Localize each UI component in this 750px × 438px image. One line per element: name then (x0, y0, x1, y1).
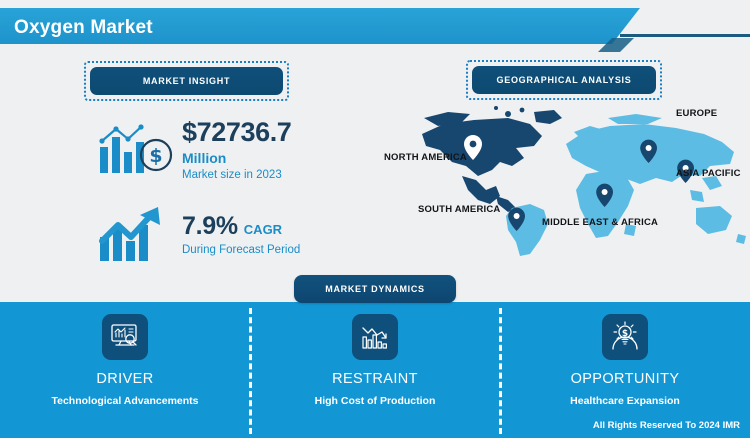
market-size-value: $72736.7 (182, 118, 291, 146)
cagr-subtitle: During Forecast Period (182, 244, 300, 256)
dynamics-column-opportunity: $ (500, 302, 750, 438)
bar-chart-dollar-icon: $ (96, 119, 174, 181)
dynamics-subtitle-opportunity: Healthcare Expansion (570, 395, 680, 407)
cagr-line: 7.9% CAGR (182, 212, 300, 241)
copyright-note: All Rights Reserved To 2024 IMR (593, 420, 740, 431)
dynamics-title-restraint: RESTRAINT (332, 371, 418, 387)
lightbulb-dollar-icon: $ (602, 314, 648, 360)
infographic-page: Oxygen Market MARKET INSIGHT GEOGRAPHICA… (0, 0, 750, 438)
badge-market-insight-pill: MARKET INSIGHT (90, 67, 283, 95)
market-size-unit: Million (182, 150, 291, 166)
header-rule-line (620, 34, 750, 37)
dynamics-title-opportunity: OPPORTUNITY (571, 371, 680, 387)
growth-arrow-icon (96, 203, 174, 265)
map-label-north-america: NORTH AMERICA (384, 152, 467, 163)
stat-cagr: 7.9% CAGR During Forecast Period (96, 203, 300, 265)
market-dynamics-panel: DRIVER Technological Advancements (0, 302, 750, 438)
badge-market-dynamics-label: MARKET DYNAMICS (325, 284, 425, 294)
declining-chart-icon (352, 314, 398, 360)
dynamics-title-driver: DRIVER (96, 371, 153, 387)
page-title: Oxygen Market (14, 17, 153, 39)
header-banner: Oxygen Market (0, 8, 750, 44)
map-label-europe: EUROPE (676, 108, 717, 119)
map-label-asia-pacific: ASIA PACIFIC (676, 168, 741, 179)
dynamics-subtitle-restraint: High Cost of Production (315, 395, 436, 407)
badge-market-insight-label: MARKET INSIGHT (143, 76, 230, 86)
world-map: NORTH AMERICA SOUTH AMERICA MIDDLE EAST … (404, 104, 750, 264)
stat-cagr-text: 7.9% CAGR During Forecast Period (182, 212, 300, 256)
monitor-analytics-icon (102, 314, 148, 360)
dynamics-column-restraint: RESTRAINT High Cost of Production (250, 302, 500, 438)
svg-text:$: $ (149, 145, 162, 167)
map-label-middle-east-africa: MIDDLE EAST & AFRICA (542, 217, 658, 228)
cagr-tag: CAGR (244, 222, 282, 237)
badge-market-dynamics: MARKET DYNAMICS (294, 275, 456, 303)
world-map-svg (404, 104, 750, 264)
badge-geographical-analysis-label: GEOGRAPHICAL ANALYSIS (497, 75, 632, 85)
dynamics-column-driver: DRIVER Technological Advancements (0, 302, 250, 438)
stat-market-size-text: $72736.7 Million Market size in 2023 (182, 118, 291, 181)
dynamics-subtitle-driver: Technological Advancements (51, 395, 198, 407)
cagr-value: 7.9% (182, 212, 238, 241)
market-size-subtitle: Market size in 2023 (182, 169, 291, 181)
stat-market-size: $ $72736.7 Million Market size in 2023 (96, 118, 291, 181)
map-label-south-america: SOUTH AMERICA (418, 204, 500, 215)
badge-geographical-analysis-pill: GEOGRAPHICAL ANALYSIS (472, 66, 656, 94)
badge-market-insight: MARKET INSIGHT (84, 61, 289, 101)
badge-geographical-analysis: GEOGRAPHICAL ANALYSIS (466, 60, 662, 100)
map-region-australia (696, 206, 746, 244)
